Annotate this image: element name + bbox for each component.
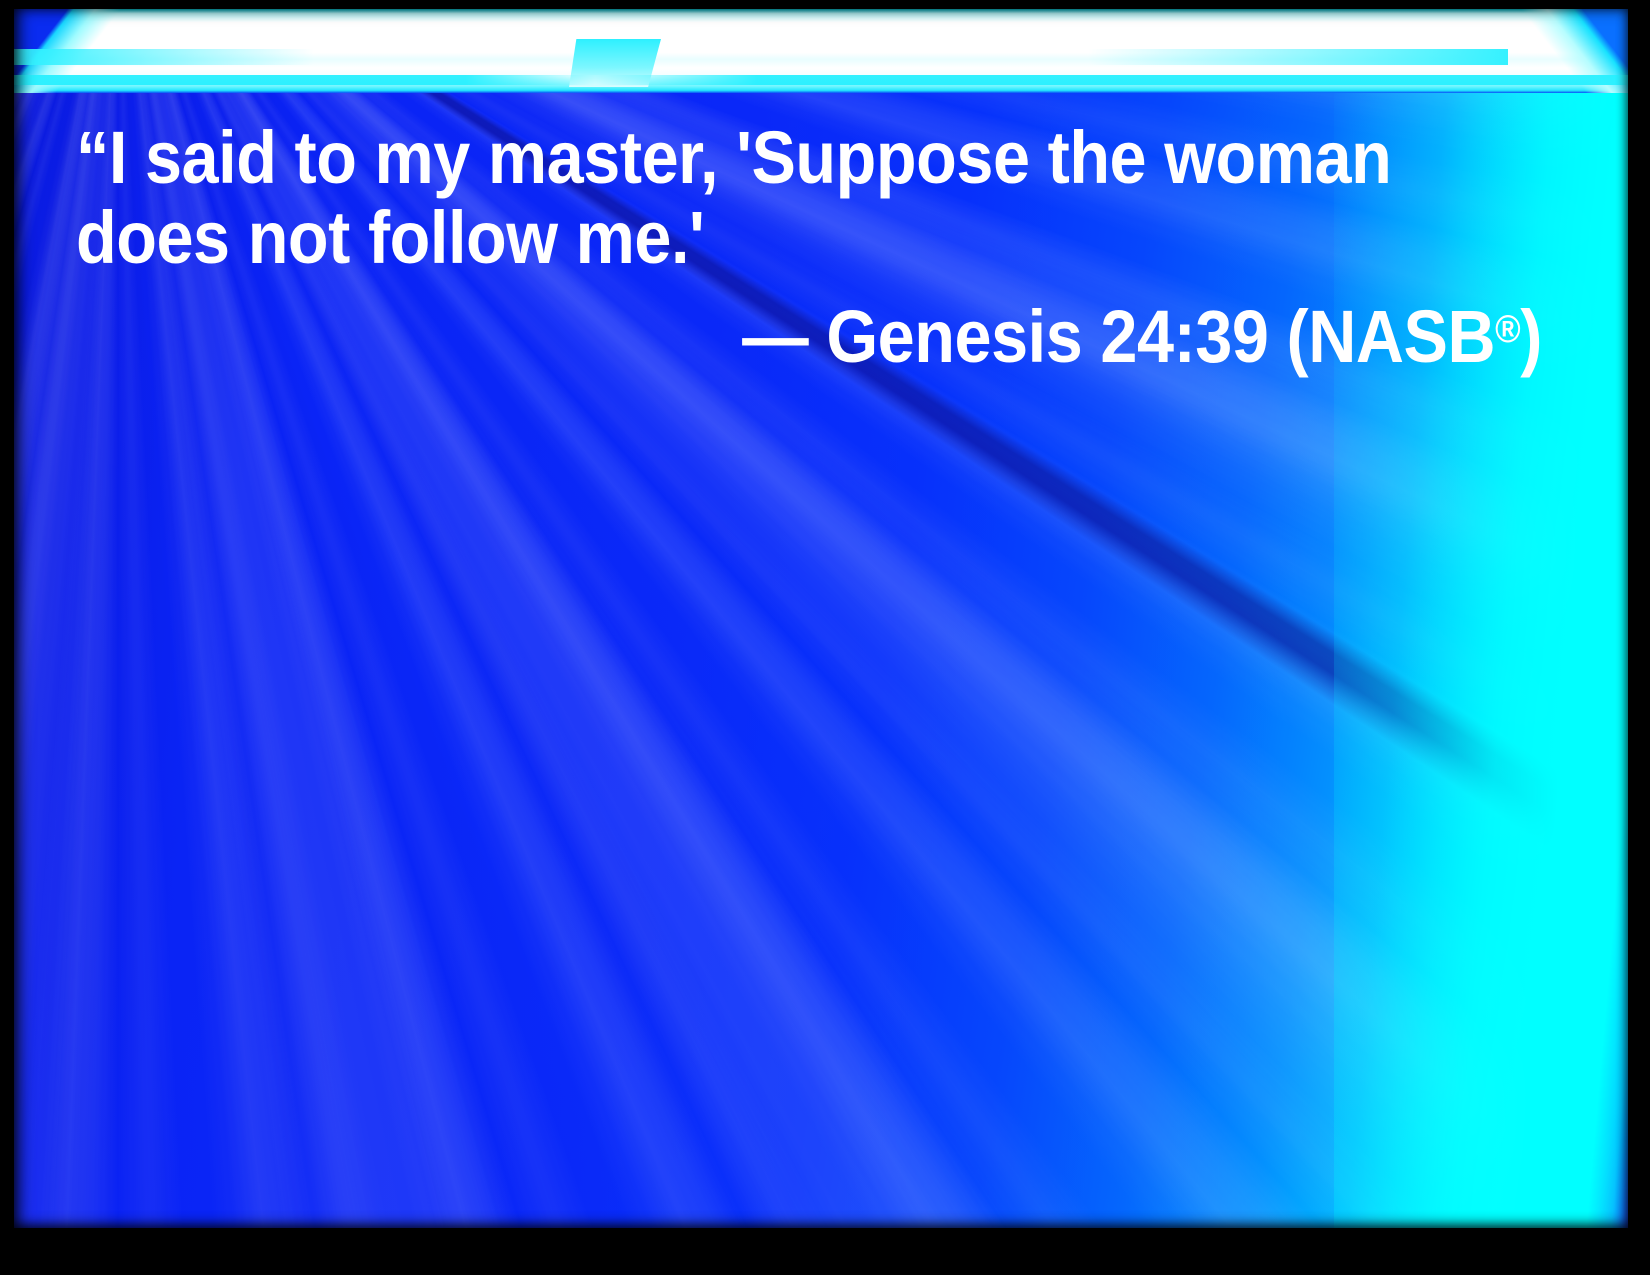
citation-translation-close: ) <box>1520 295 1542 378</box>
citation-translation-open: (NASB <box>1287 295 1496 378</box>
quote-block: “I said to my master, 'Suppose the woman… <box>76 118 1542 377</box>
scripture-citation: — Genesis 24:39 (NASB®) <box>223 290 1542 377</box>
scripture-slide: “I said to my master, 'Suppose the woman… <box>0 0 1650 1275</box>
quote-line-2: does not follow me.' <box>76 198 1395 278</box>
slide-text-layer: “I said to my master, 'Suppose the woman… <box>0 0 1650 1275</box>
citation-book: Genesis <box>826 295 1082 378</box>
citation-dash: — <box>742 295 808 378</box>
quote-line-1: “I said to my master, 'Suppose the woman <box>76 118 1395 198</box>
citation-reference: 24:39 <box>1100 295 1268 378</box>
registered-trademark-icon: ® <box>1495 308 1520 351</box>
